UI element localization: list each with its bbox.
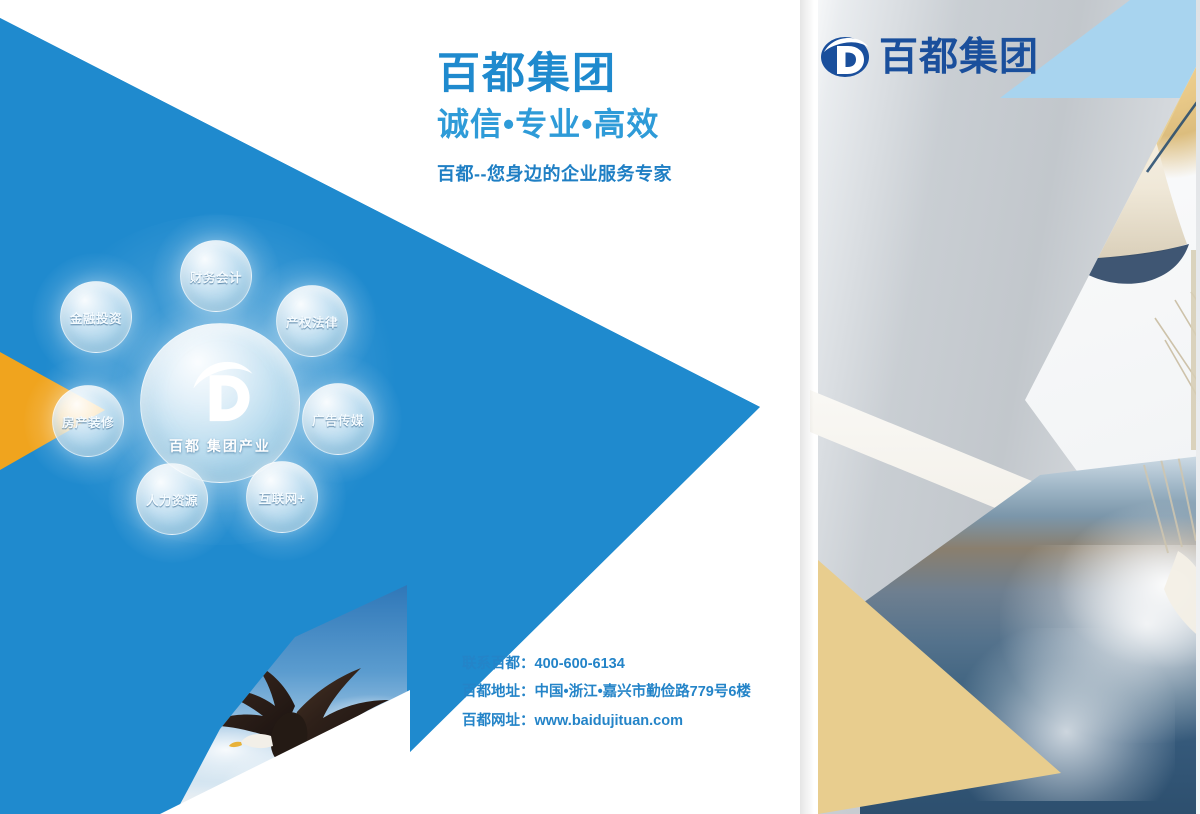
contact-address-label: 百都地址： (462, 684, 535, 700)
bubble-property-law[interactable]: 产权法律 (276, 285, 348, 357)
bubble-label: 人力资源 (146, 490, 198, 509)
bubble-label: 金融投资 (70, 308, 122, 327)
contact-phone-label: 联系百都： (462, 656, 535, 672)
brand-logo-text: 百都集团 (879, 38, 1039, 77)
right-edge-gradient (1196, 0, 1200, 814)
contact-address-value: 中国•浙江•嘉兴市勤俭路779号6楼 (535, 684, 751, 700)
left-panel: 百都 集团产业 财务会计 产权法律 广告传媒 互联网+ 人力资源 (0, 0, 800, 814)
bubble-label: 互联网+ (259, 488, 306, 507)
bubble-human-resources[interactable]: 人力资源 (136, 463, 208, 535)
bubble-label: 产权法律 (286, 312, 338, 331)
contact-address-line: 百都地址：中国•浙江•嘉兴市勤俭路779号6楼 (462, 678, 751, 706)
bubble-real-estate-decoration[interactable]: 房产装修 (52, 385, 124, 457)
brochure-page: 百都 集团产业 财务会计 产权法律 广告传媒 互联网+ 人力资源 (0, 0, 1200, 814)
d-emblem-icon (820, 32, 870, 82)
bubble-internet-plus[interactable]: 互联网+ (246, 461, 318, 533)
contact-website-line: 百都网址：www.baidujituan.com (462, 707, 751, 735)
headline-block: 百都集团 诚信•专业•高效 百都--您身边的企业服务专家 (437, 50, 787, 186)
bubble-label: 房产装修 (62, 412, 114, 431)
bubble-finance-accounting[interactable]: 财务会计 (180, 240, 252, 312)
contact-website-value[interactable]: www.baidujituan.com (535, 713, 684, 729)
bubble-label: 财务会计 (190, 267, 242, 286)
bubble-label: 广告传媒 (312, 410, 364, 429)
industry-bubble-diagram: 百都 集团产业 财务会计 产权法律 广告传媒 互联网+ 人力资源 (30, 215, 410, 545)
right-panel: 百都集团 (800, 0, 1200, 814)
contact-phone-value: 400-600-6134 (535, 656, 625, 672)
contact-block: 联系百都：400-600-6134 百都地址：中国•浙江•嘉兴市勤俭路779号6… (462, 650, 751, 735)
bubble-financial-investment[interactable]: 金融投资 (60, 281, 132, 353)
bubble-advertising-media[interactable]: 广告传媒 (302, 383, 374, 455)
bubble-center-label: 百都 集团产业 (169, 436, 271, 456)
page-title: 百都集团 (437, 50, 787, 98)
contact-phone-line: 联系百都：400-600-6134 (462, 650, 751, 678)
bubble-center[interactable]: 百都 集团产业 (140, 323, 300, 483)
page-tagline: 百都--您身边的企业服务专家 (437, 160, 787, 186)
d-emblem-icon (183, 356, 257, 430)
page-subtitle: 诚信•专业•高效 (437, 104, 787, 146)
contact-website-label: 百都网址： (462, 713, 535, 729)
brand-logo: 百都集团 (820, 32, 1039, 82)
